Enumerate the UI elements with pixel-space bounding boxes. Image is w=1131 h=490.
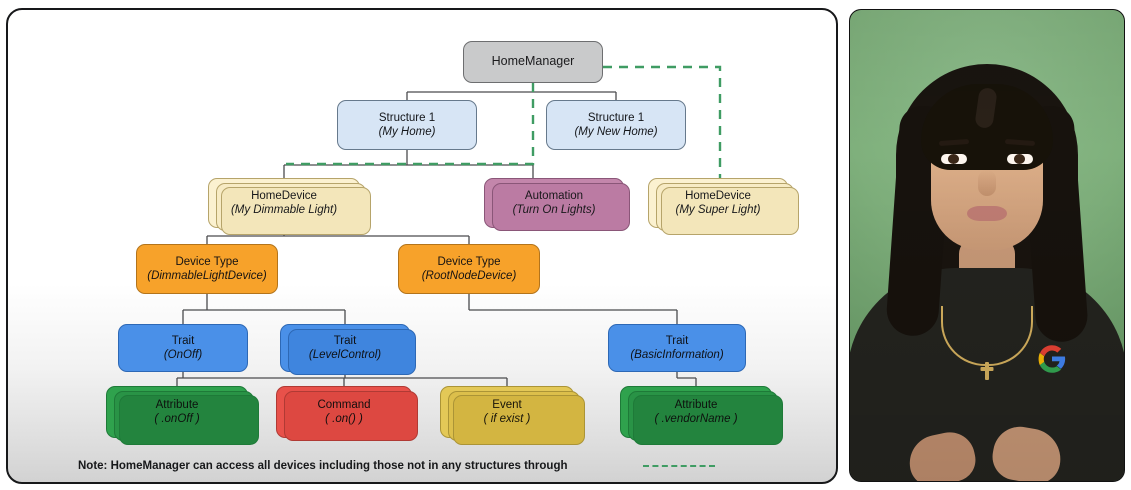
node-title: Structure 1 — [379, 111, 435, 125]
node-title: HomeManager — [492, 54, 575, 69]
screenshot-root: HomeManagerStructure 1(My Home)Structure… — [0, 0, 1131, 490]
node-title: Trait — [666, 334, 689, 348]
diagram-nodes: HomeManagerStructure 1(My Home)Structure… — [8, 10, 836, 482]
node-title: Structure 1 — [588, 111, 644, 125]
node-home-device-1: HomeDevice(My Dimmable Light) — [208, 178, 360, 228]
node-event-ifexist: Event( if exist ) — [440, 386, 574, 438]
node-title: Device Type — [175, 255, 238, 269]
node-home-device-2: HomeDevice(My Super Light) — [648, 178, 788, 228]
node-command-on: Command( .on() ) — [276, 386, 412, 438]
node-structure-1: Structure 1(My Home) — [337, 100, 477, 150]
node-subtitle: (Turn On Lights) — [513, 203, 596, 217]
node-title: HomeDevice — [251, 189, 317, 203]
node-trait-basic: Trait(BasicInformation) — [608, 324, 746, 372]
node-title: Automation — [525, 189, 583, 203]
node-title: Event — [492, 398, 521, 412]
node-trait-level: Trait(LevelControl) — [280, 324, 410, 372]
node-title: Attribute — [156, 398, 199, 412]
node-device-type-2: Device Type(RootNodeDevice) — [398, 244, 540, 294]
node-structure-2: Structure 1(My New Home) — [546, 100, 686, 150]
node-title: Command — [317, 398, 370, 412]
node-title: Trait — [334, 334, 357, 348]
node-subtitle: (My Home) — [379, 125, 436, 139]
node-subtitle: ( .vendorName ) — [654, 412, 737, 426]
node-attr-onoff: Attribute( .onOff ) — [106, 386, 248, 438]
node-subtitle: ( if exist ) — [484, 412, 531, 426]
node-title: Device Type — [437, 255, 500, 269]
node-subtitle: (OnOff) — [164, 348, 202, 362]
node-home-manager: HomeManager — [463, 41, 603, 83]
node-automation: Automation(Turn On Lights) — [484, 178, 624, 228]
node-title: HomeDevice — [685, 189, 751, 203]
legend-dashed-line — [643, 465, 715, 467]
node-subtitle: (My Dimmable Light) — [231, 203, 337, 217]
video-vignette — [850, 10, 1124, 481]
presenter-video-panel[interactable] — [849, 9, 1125, 482]
node-subtitle: ( .on() ) — [325, 412, 363, 426]
slide-panel: HomeManagerStructure 1(My Home)Structure… — [6, 8, 838, 484]
node-title: Trait — [172, 334, 195, 348]
node-attr-vendor: Attribute( .vendorName ) — [620, 386, 772, 438]
node-title: Attribute — [675, 398, 718, 412]
node-trait-onoff: Trait(OnOff) — [118, 324, 248, 372]
node-subtitle: (BasicInformation) — [630, 348, 723, 362]
diagram-note: Note: HomeManager can access all devices… — [78, 460, 568, 472]
node-subtitle: (My New Home) — [574, 125, 657, 139]
node-device-type-1: Device Type(DimmableLightDevice) — [136, 244, 278, 294]
node-subtitle: (My Super Light) — [675, 203, 760, 217]
node-subtitle: (DimmableLightDevice) — [147, 269, 267, 283]
node-subtitle: (LevelControl) — [309, 348, 381, 362]
node-subtitle: ( .onOff ) — [154, 412, 199, 426]
node-subtitle: (RootNodeDevice) — [422, 269, 517, 283]
